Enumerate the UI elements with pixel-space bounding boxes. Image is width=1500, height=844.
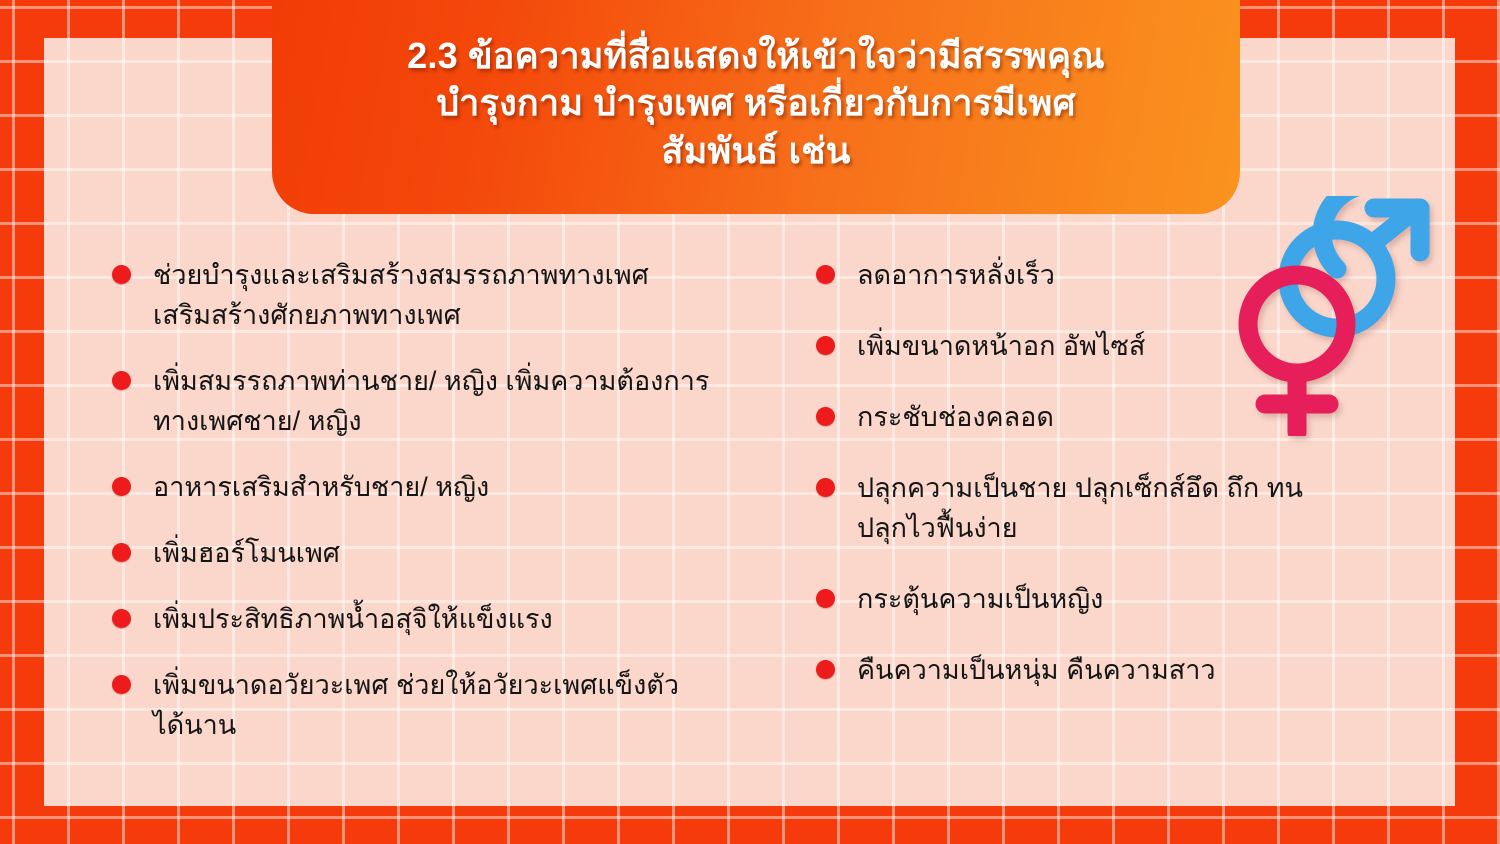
bullet-dot-icon <box>816 660 835 679</box>
list-item: คืนความเป็นหนุ่ม คืนความสาว <box>816 650 1404 690</box>
bullet-dot-icon <box>112 543 131 562</box>
bullet-dot-icon <box>112 265 131 284</box>
list-item: ช่วยบำรุงและเสริมสร้างสมรรถภาพทางเพศ เสร… <box>112 255 804 335</box>
list-item-label: เพิ่มประสิทธิภาพน้ำอสุจิให้แข็งแรง <box>153 599 553 639</box>
list-item-label: เพิ่มฮอร์โมนเพศ <box>153 533 340 573</box>
bullet-dot-icon <box>816 589 835 608</box>
list-item-label: ลดอาการหลั่งเร็ว <box>857 255 1055 295</box>
list-item: เพิ่มสมรรถภาพท่านชาย/ หญิง เพิ่มความต้อง… <box>112 361 804 441</box>
list-item: ปลุกความเป็นชาย ปลุกเซ็กส์อึด ถึก ทน ปลุ… <box>816 468 1404 548</box>
bullet-dot-icon <box>112 371 131 390</box>
list-item-label: ปลุกความเป็นชาย ปลุกเซ็กส์อึด ถึก ทน ปลุ… <box>857 468 1303 548</box>
list-item-label: คืนความเป็นหนุ่ม คืนความสาว <box>857 650 1216 690</box>
bullet-dot-icon <box>112 609 131 628</box>
male-female-symbol-icon <box>1224 196 1444 436</box>
list-item: กระตุ้นความเป็นหญิง <box>816 579 1404 619</box>
list-item-label: กระชับช่องคลอด <box>857 397 1054 437</box>
list-item-label: เพิ่มสมรรถภาพท่านชาย/ หญิง เพิ่มความต้อง… <box>153 361 709 441</box>
bullet-dot-icon <box>816 265 835 284</box>
page-title: 2.3 ข้อความที่สื่อแสดงให้เข้าใจว่ามีสรรพ… <box>407 32 1105 175</box>
list-item: อาหารเสริมสำหรับชาย/ หญิง <box>112 467 804 507</box>
list-item: เพิ่มฮอร์โมนเพศ <box>112 533 804 573</box>
list-item-label: เพิ่มขนาดหน้าอก อัพไซส์ <box>857 326 1145 366</box>
bullet-dot-icon <box>816 336 835 355</box>
bullet-dot-icon <box>112 477 131 496</box>
list-item-label: กระตุ้นความเป็นหญิง <box>857 579 1103 619</box>
list-item: เพิ่มประสิทธิภาพน้ำอสุจิให้แข็งแรง <box>112 599 804 639</box>
list-item-label: ช่วยบำรุงและเสริมสร้างสมรรถภาพทางเพศ เสร… <box>153 255 649 335</box>
title-banner: 2.3 ข้อความที่สื่อแสดงให้เข้าใจว่ามีสรรพ… <box>272 0 1240 214</box>
bullet-dot-icon <box>112 675 131 694</box>
bullet-dot-icon <box>816 407 835 426</box>
left-bullet-column: ช่วยบำรุงและเสริมสร้างสมรรถภาพทางเพศ เสร… <box>44 255 804 771</box>
slide-canvas: 2.3 ข้อความที่สื่อแสดงให้เข้าใจว่ามีสรรพ… <box>0 0 1500 844</box>
list-item-label: อาหารเสริมสำหรับชาย/ หญิง <box>153 467 489 507</box>
bullet-dot-icon <box>816 478 835 497</box>
list-item: เพิ่มขนาดอวัยวะเพศ ช่วยให้อวัยวะเพศแข็งต… <box>112 665 804 745</box>
list-item-label: เพิ่มขนาดอวัยวะเพศ ช่วยให้อวัยวะเพศแข็งต… <box>153 665 679 745</box>
